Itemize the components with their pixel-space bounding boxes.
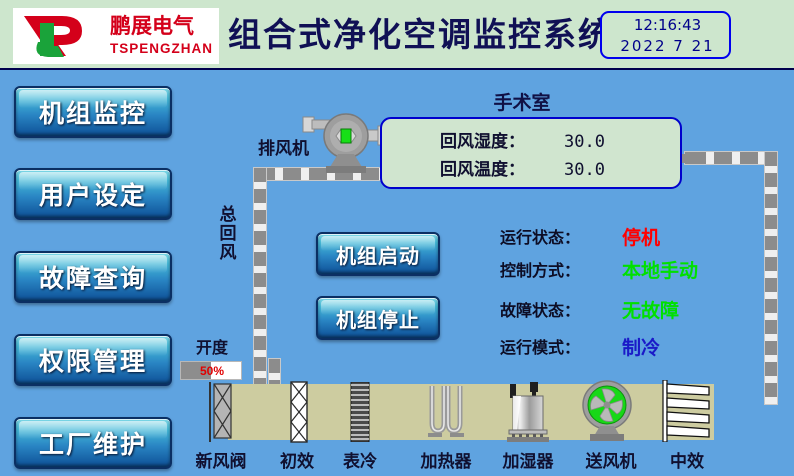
sidebar-item-user-settings[interactable]: 用户设定 [14, 168, 172, 220]
sidebar-item-permission-management[interactable]: 权限管理 [14, 334, 172, 386]
heater-icon [425, 383, 467, 441]
duct-supply-right-vertical [764, 151, 778, 405]
status-row-fault-state: 故障状态： 无故障 [500, 297, 730, 325]
status-row-control-mode: 控制方式： 本地手动 [500, 257, 730, 285]
sidebar-item-unit-monitor[interactable]: 机组监控 [14, 86, 172, 138]
sidebar-item-label: 权限管理 [16, 336, 170, 384]
status-value-control-mode: 本地手动 [622, 257, 732, 285]
tspengzhan-logo-icon [18, 12, 104, 60]
equipment-label-primary-filter: 初效 [265, 450, 329, 474]
status-value-run-state: 停机 [622, 224, 732, 252]
status-row-run-mode: 运行模式： 制冷 [500, 334, 730, 362]
medium-filter-icon [659, 380, 721, 442]
status-value-run-mode: 制冷 [622, 334, 732, 362]
sidebar-item-label: 工厂维护 [16, 419, 170, 467]
return-air-label: 总回风 [218, 206, 238, 263]
damper-opening-bar[interactable]: 50% [180, 361, 242, 380]
exhaust-fan-icon [300, 104, 392, 174]
status-label: 运行状态： [500, 224, 608, 252]
room-humidity-label: 回风湿度： [440, 129, 560, 155]
clock-time: 12:16:43 [602, 15, 733, 35]
supply-fan-icon [574, 378, 640, 442]
equipment-label-supply-fan: 送风机 [570, 450, 652, 474]
page-title: 组合式净化空调监控系统 [228, 12, 588, 58]
room-title: 手术室 [462, 90, 582, 116]
sidebar-item-label: 机组监控 [16, 88, 170, 136]
status-label: 故障状态： [500, 297, 608, 325]
status-value-fault-state: 无故障 [622, 297, 732, 325]
hmi-screen: 鹏展电气 TSPENGZHAN 组合式净化空调监控系统 12:16:43 202… [0, 0, 794, 476]
status-label: 控制方式： [500, 257, 608, 285]
cooling-coil-icon [349, 382, 371, 442]
unit-start-button[interactable]: 机组启动 [316, 232, 440, 276]
room-humidity-value: 30.0 [564, 129, 644, 155]
return-air-label-text: 总回风 [218, 206, 238, 263]
status-label: 运行模式： [500, 334, 608, 362]
sidebar-item-fault-query[interactable]: 故障查询 [14, 251, 172, 303]
equipment-label-humidifier: 加湿器 [487, 450, 569, 474]
damper-opening-value: 50% [181, 362, 242, 380]
logo-chinese-name: 鹏展电气 [110, 13, 214, 39]
datetime-display: 12:16:43 2022 7 21 [600, 11, 731, 59]
primary-filter-icon [288, 381, 310, 443]
company-logo: 鹏展电气 TSPENGZHAN [13, 8, 219, 64]
fresh-air-damper-icon [204, 382, 238, 442]
room-temperature-row: 回风温度： 30.0 [382, 157, 684, 183]
header-bar: 鹏展电气 TSPENGZHAN 组合式净化空调监控系统 12:16:43 202… [0, 0, 794, 70]
sidebar-item-label: 故障查询 [16, 253, 170, 301]
humidifier-icon [499, 382, 557, 442]
sidebar-item-factory-maintenance[interactable]: 工厂维护 [14, 417, 172, 469]
status-row-run-state: 运行状态： 停机 [500, 224, 730, 252]
damper-opening-label: 开度 [186, 337, 238, 359]
room-temperature-label: 回风温度： [440, 157, 560, 183]
room-humidity-row: 回风湿度： 30.0 [382, 129, 684, 155]
unit-start-label: 机组启动 [318, 234, 438, 274]
duct-return-left-vertical [253, 167, 267, 389]
sidebar-item-label: 用户设定 [16, 170, 170, 218]
equipment-label-fresh-air-damper: 新风阀 [180, 450, 262, 474]
logo-english-name: TSPENGZHAN [110, 40, 216, 58]
unit-stop-label: 机组停止 [318, 298, 438, 338]
equipment-label-cooling-coil: 表冷 [328, 450, 392, 474]
room-readout-panel: 回风湿度： 30.0 回风温度： 30.0 [380, 117, 682, 189]
clock-date: 2022 7 21 [602, 36, 733, 56]
equipment-label-heater: 加热器 [405, 450, 487, 474]
room-temperature-value: 30.0 [564, 157, 644, 183]
duct-room-outlet-stub [682, 154, 696, 163]
equipment-label-medium-filter: 中效 [655, 450, 719, 474]
unit-stop-button[interactable]: 机组停止 [316, 296, 440, 340]
